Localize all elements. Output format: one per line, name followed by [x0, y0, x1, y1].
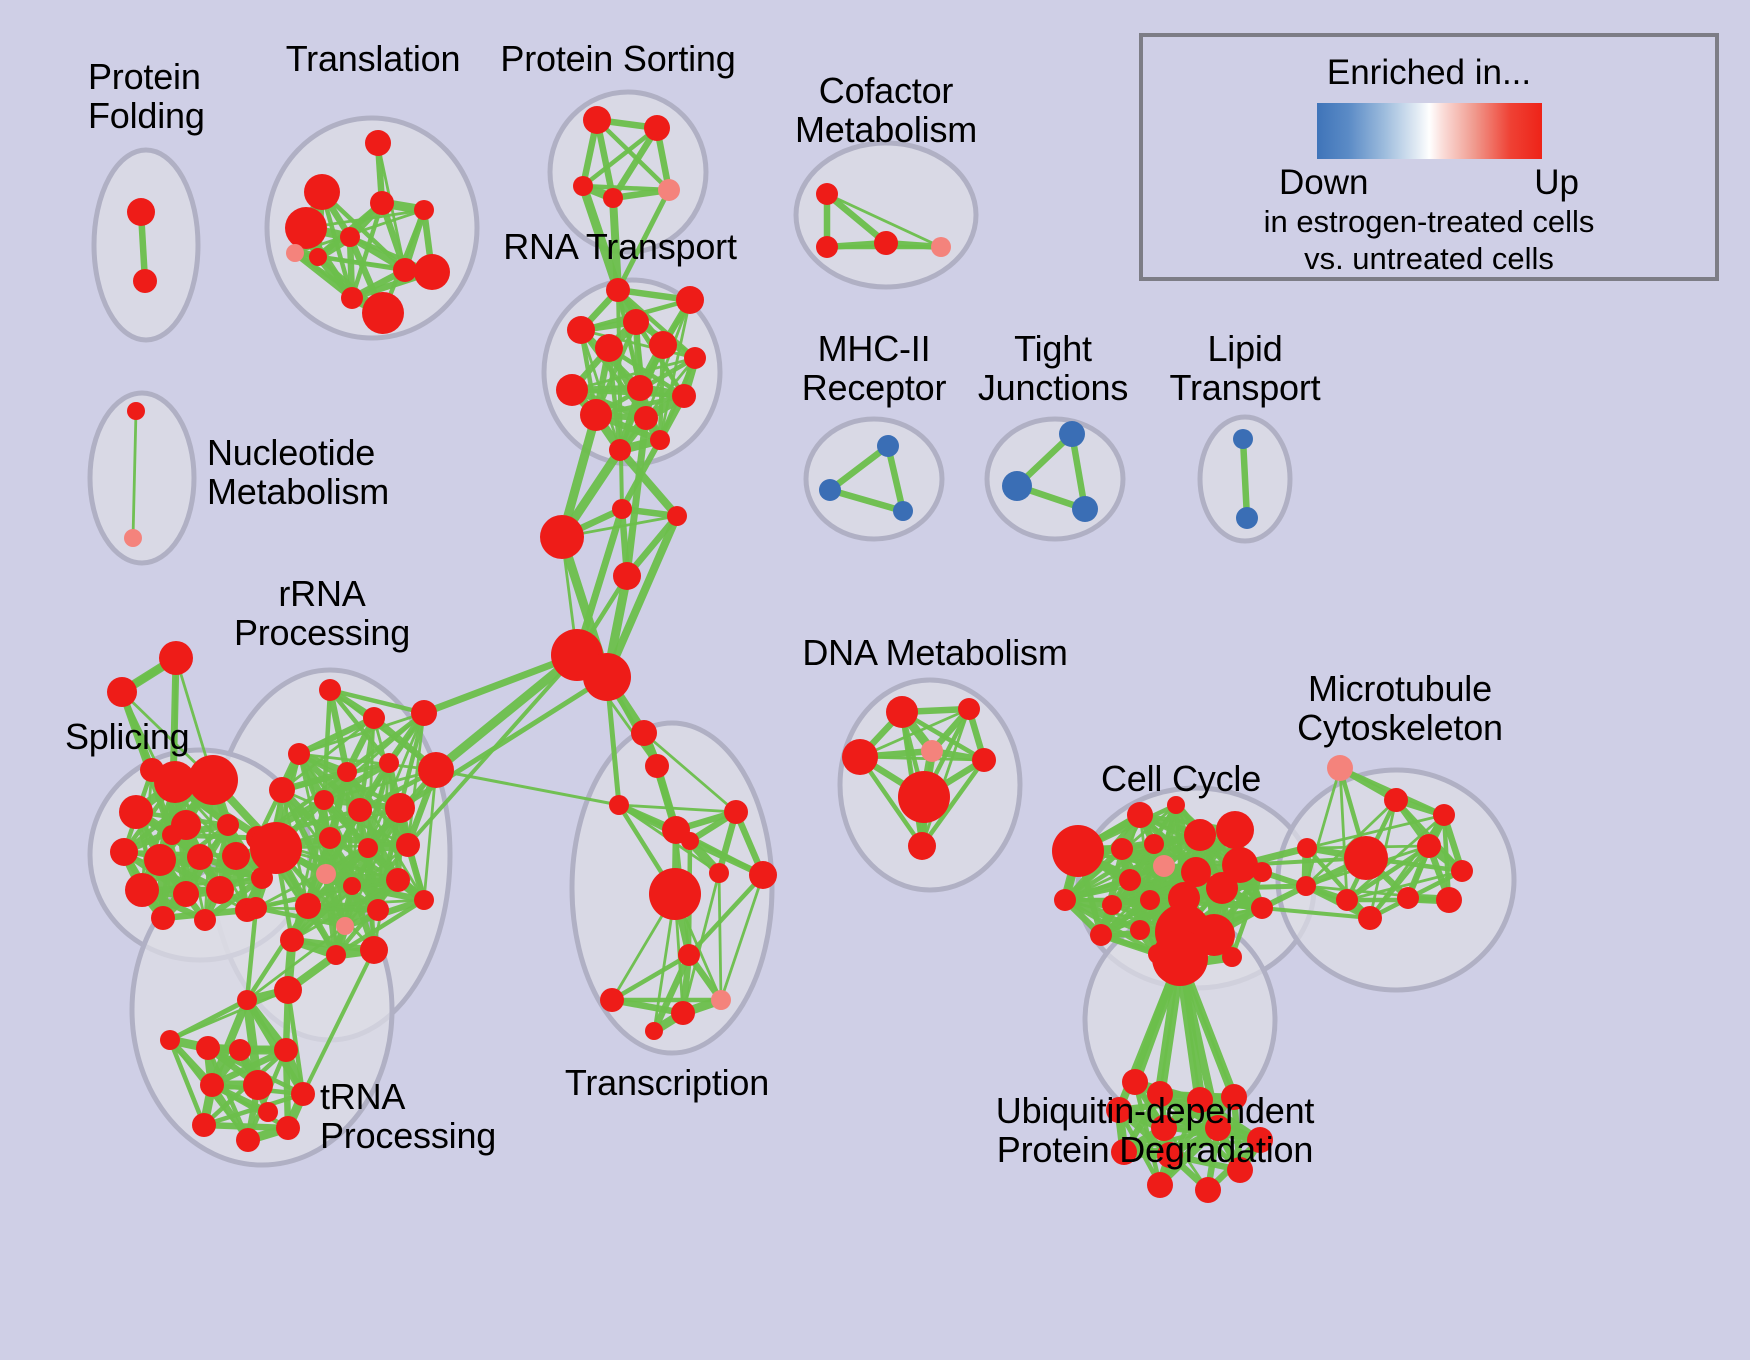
network-node[interactable] — [684, 347, 706, 369]
network-node[interactable] — [893, 501, 913, 521]
network-node[interactable] — [1147, 1172, 1173, 1198]
network-node[interactable] — [709, 863, 729, 883]
network-node[interactable] — [162, 825, 182, 845]
network-node[interactable] — [645, 754, 669, 778]
network-node[interactable] — [285, 207, 327, 249]
network-node[interactable] — [319, 679, 341, 701]
network-node[interactable] — [119, 795, 153, 829]
network-node[interactable] — [337, 762, 357, 782]
network-node[interactable] — [187, 844, 213, 870]
cluster-label-protein-sorting: Protein Sorting — [500, 40, 735, 79]
network-node[interactable] — [1216, 811, 1254, 849]
network-node[interactable] — [650, 430, 670, 450]
network-node[interactable] — [972, 748, 996, 772]
network-node[interactable] — [1233, 429, 1253, 449]
network-node[interactable] — [606, 278, 630, 302]
cluster-label-nucleotide-metabolism: Nucleotide Metabolism — [207, 434, 389, 512]
cluster-label-rrna-processing: rRNA Processing — [234, 575, 410, 653]
network-node[interactable] — [842, 739, 878, 775]
network-edge — [1243, 439, 1247, 518]
network-node[interactable] — [196, 1036, 220, 1060]
network-node[interactable] — [816, 183, 838, 205]
network-node[interactable] — [1397, 887, 1419, 909]
network-node[interactable] — [749, 861, 777, 889]
network-node[interactable] — [133, 269, 157, 293]
network-node[interactable] — [1090, 924, 1112, 946]
network-node[interactable] — [127, 402, 145, 420]
network-node[interactable] — [1127, 802, 1153, 828]
cluster-label-protein-folding: Protein Folding — [88, 58, 205, 136]
network-node[interactable] — [1002, 471, 1032, 501]
network-node[interactable] — [1195, 1177, 1221, 1203]
network-node[interactable] — [819, 479, 841, 501]
network-node[interactable] — [107, 677, 137, 707]
network-node[interactable] — [603, 188, 623, 208]
network-node[interactable] — [623, 309, 649, 335]
network-node[interactable] — [276, 1116, 300, 1140]
network-node[interactable] — [280, 928, 304, 952]
cluster-label-splicing: Splicing — [65, 718, 189, 757]
legend-endpoint-labels: Down Up — [1279, 163, 1579, 203]
network-node[interactable] — [556, 374, 588, 406]
network-node[interactable] — [1433, 804, 1455, 826]
network-node[interactable] — [634, 406, 658, 430]
network-edge — [607, 516, 677, 677]
network-node[interactable] — [1336, 889, 1358, 911]
network-node[interactable] — [159, 641, 193, 675]
network-edge — [436, 655, 577, 770]
network-node[interactable] — [931, 237, 951, 257]
network-node[interactable] — [110, 838, 138, 866]
network-node[interactable] — [245, 897, 267, 919]
network-node[interactable] — [288, 743, 310, 765]
network-node[interactable] — [340, 227, 360, 247]
network-node[interactable] — [1297, 838, 1317, 858]
network-node[interactable] — [217, 814, 239, 836]
network-node[interactable] — [127, 198, 155, 226]
network-node[interactable] — [1130, 920, 1150, 940]
network-node[interactable] — [358, 838, 378, 858]
network-node[interactable] — [192, 1113, 216, 1137]
network-node[interactable] — [316, 864, 336, 884]
network-node[interactable] — [631, 720, 657, 746]
network-node[interactable] — [627, 375, 653, 401]
network-node[interactable] — [609, 439, 631, 461]
network-node[interactable] — [649, 868, 701, 920]
network-node[interactable] — [286, 244, 304, 262]
network-node[interactable] — [898, 771, 950, 823]
network-node[interactable] — [1327, 755, 1353, 781]
network-edge — [400, 677, 607, 808]
network-node[interactable] — [580, 399, 612, 431]
network-node[interactable] — [1054, 889, 1076, 911]
network-node[interactable] — [711, 990, 731, 1010]
network-node[interactable] — [367, 899, 389, 921]
cluster-label-rna-transport: RNA Transport — [503, 228, 737, 267]
cluster-label-cofactor-metabolism: Cofactor Metabolism — [795, 72, 977, 150]
enrichment-map-figure: Protein FoldingTranslationProtein Sortin… — [0, 0, 1750, 1360]
network-edge — [719, 873, 721, 1000]
network-node[interactable] — [724, 800, 748, 824]
network-node[interactable] — [921, 740, 943, 762]
network-node[interactable] — [362, 292, 404, 334]
network-node[interactable] — [1358, 906, 1382, 930]
legend-low-label: Down — [1279, 163, 1368, 203]
network-node[interactable] — [540, 515, 584, 559]
network-node[interactable] — [567, 316, 595, 344]
legend-subtitle-line2: vs. untreated cells — [1304, 241, 1554, 277]
legend-subtitle-line1: in estrogen-treated cells — [1264, 204, 1595, 240]
network-node[interactable] — [274, 976, 302, 1004]
network-node[interactable] — [645, 1022, 663, 1040]
network-node[interactable] — [237, 990, 257, 1010]
cluster-label-lipid-transport: Lipid Transport — [1170, 330, 1321, 408]
cluster-label-cell-cycle: Cell Cycle — [1101, 760, 1261, 799]
cluster-label-trna-processing: tRNA Processing — [320, 1078, 496, 1156]
network-node[interactable] — [1344, 836, 1388, 880]
network-node[interactable] — [206, 876, 234, 904]
network-node[interactable] — [1236, 507, 1258, 529]
network-node[interactable] — [379, 753, 399, 773]
network-node[interactable] — [194, 909, 216, 931]
network-node[interactable] — [1059, 421, 1085, 447]
network-node[interactable] — [274, 1038, 298, 1062]
network-node[interactable] — [1384, 788, 1408, 812]
network-node[interactable] — [1144, 834, 1164, 854]
legend-high-label: Up — [1534, 163, 1579, 203]
network-node[interactable] — [124, 529, 142, 547]
network-node[interactable] — [1206, 872, 1238, 904]
network-node[interactable] — [874, 231, 898, 255]
network-node[interactable] — [1102, 895, 1122, 915]
network-node[interactable] — [200, 1073, 224, 1097]
network-node[interactable] — [613, 562, 641, 590]
network-node[interactable] — [672, 384, 696, 408]
network-node[interactable] — [188, 755, 238, 805]
cluster-label-dna-metabolism: DNA Metabolism — [802, 634, 1067, 673]
network-node[interactable] — [583, 653, 631, 701]
network-node[interactable] — [1140, 890, 1160, 910]
network-node[interactable] — [386, 868, 410, 892]
network-node[interactable] — [370, 191, 394, 215]
cluster-label-tight-junctions: Tight Junctions — [978, 330, 1128, 408]
network-node[interactable] — [258, 1102, 278, 1122]
network-node[interactable] — [658, 179, 680, 201]
cluster-ellipse-cofactor-metabolism — [796, 143, 976, 287]
network-node[interactable] — [144, 844, 176, 876]
network-node[interactable] — [1111, 838, 1133, 860]
cluster-label-ubiquitin-protein-degradation: Ubiquitin-dependent Protein Degradation — [996, 1092, 1314, 1170]
legend-panel: Enriched in... Down Up in estrogen-treat… — [1139, 33, 1719, 281]
network-node[interactable] — [160, 1030, 180, 1050]
network-node[interactable] — [173, 881, 199, 907]
network-node[interactable] — [363, 707, 385, 729]
network-node[interactable] — [125, 873, 159, 907]
network-node[interactable] — [348, 798, 372, 822]
network-node[interactable] — [678, 944, 700, 966]
legend-title: Enriched in... — [1327, 53, 1531, 93]
network-node[interactable] — [681, 832, 699, 850]
network-node[interactable] — [1072, 496, 1098, 522]
cluster-label-mhc-ii-receptor: MHC-II Receptor — [802, 330, 946, 408]
cluster-label-translation: Translation — [286, 40, 461, 79]
network-node[interactable] — [1052, 825, 1104, 877]
network-node[interactable] — [600, 988, 624, 1012]
network-node[interactable] — [229, 1039, 251, 1061]
network-node[interactable] — [1222, 947, 1242, 967]
network-node[interactable] — [396, 833, 420, 857]
network-node[interactable] — [414, 254, 450, 290]
network-node[interactable] — [326, 945, 346, 965]
network-node[interactable] — [295, 893, 321, 919]
network-node[interactable] — [269, 777, 295, 803]
network-node[interactable] — [595, 334, 623, 362]
network-node[interactable] — [336, 917, 354, 935]
network-node[interactable] — [1153, 855, 1175, 877]
network-node[interactable] — [1119, 869, 1141, 891]
network-node[interactable] — [314, 790, 334, 810]
network-node[interactable] — [341, 287, 363, 309]
network-node[interactable] — [609, 795, 629, 815]
network-node[interactable] — [319, 827, 341, 849]
network-node[interactable] — [414, 200, 434, 220]
network-node[interactable] — [886, 696, 918, 728]
network-node[interactable] — [414, 890, 434, 910]
network-node[interactable] — [612, 499, 632, 519]
network-node[interactable] — [1152, 930, 1208, 986]
network-node[interactable] — [243, 1070, 273, 1100]
network-node[interactable] — [958, 698, 980, 720]
network-node[interactable] — [309, 248, 327, 266]
network-node[interactable] — [365, 130, 391, 156]
cluster-ellipse-nucleotide-metabolism — [90, 393, 194, 563]
network-node[interactable] — [411, 700, 437, 726]
network-node[interactable] — [1451, 860, 1473, 882]
network-node[interactable] — [385, 793, 415, 823]
network-node[interactable] — [649, 331, 677, 359]
network-node[interactable] — [1184, 819, 1216, 851]
network-node[interactable] — [393, 258, 417, 282]
network-node[interactable] — [1436, 887, 1462, 913]
network-node[interactable] — [667, 506, 687, 526]
network-node[interactable] — [1296, 876, 1316, 896]
network-node[interactable] — [583, 106, 611, 134]
network-node[interactable] — [304, 174, 340, 210]
network-node[interactable] — [222, 842, 250, 870]
network-node[interactable] — [291, 1082, 315, 1106]
network-node[interactable] — [877, 435, 899, 457]
network-node[interactable] — [236, 1128, 260, 1152]
cluster-label-transcription: Transcription — [565, 1064, 769, 1103]
cluster-ellipse-mhc-ii-receptor — [806, 419, 942, 539]
network-node[interactable] — [671, 1001, 695, 1025]
legend-color-gradient-bar — [1317, 103, 1542, 159]
network-node[interactable] — [250, 822, 302, 874]
network-node[interactable] — [1252, 862, 1272, 882]
network-node[interactable] — [1417, 834, 1441, 858]
network-node[interactable] — [676, 286, 704, 314]
network-node[interactable] — [151, 906, 175, 930]
network-node[interactable] — [360, 936, 388, 964]
network-node[interactable] — [418, 752, 454, 788]
network-node[interactable] — [908, 832, 936, 860]
network-node[interactable] — [343, 877, 361, 895]
network-node[interactable] — [1251, 897, 1273, 919]
cluster-label-microtubule-cytoskeleton: Microtubule Cytoskeleton — [1297, 670, 1503, 748]
network-node[interactable] — [644, 115, 670, 141]
network-node[interactable] — [573, 176, 593, 196]
network-node[interactable] — [816, 236, 838, 258]
